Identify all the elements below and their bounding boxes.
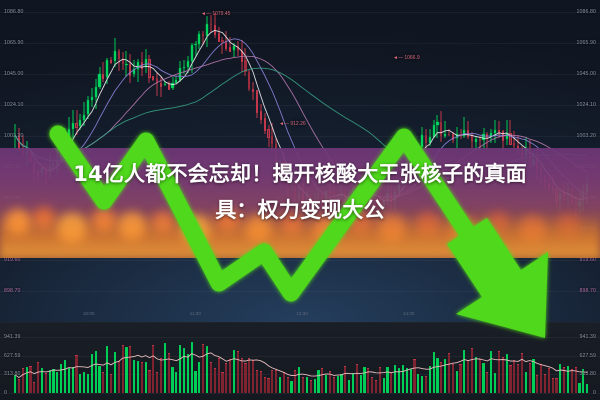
volume-bar xyxy=(233,350,235,393)
volume-bar xyxy=(486,372,488,393)
volume-bar xyxy=(344,366,346,393)
candle-body xyxy=(118,51,120,60)
volume-bar xyxy=(540,364,542,393)
candle xyxy=(264,113,266,134)
candle-wick xyxy=(498,121,499,138)
volume-bar xyxy=(229,359,231,393)
volume-bar xyxy=(72,367,74,393)
volume-bar xyxy=(187,354,189,393)
volume-bar xyxy=(110,374,112,393)
volume-axis-label: 941.39 xyxy=(580,334,596,340)
candle xyxy=(218,27,220,41)
volume-bar xyxy=(410,369,412,393)
volume-bar xyxy=(367,368,369,393)
candle-body xyxy=(271,136,273,144)
candle-body xyxy=(225,42,227,49)
candle xyxy=(202,31,204,44)
candle xyxy=(463,117,465,138)
volume-bar xyxy=(252,360,254,393)
volume-axis-label: 627.59 xyxy=(4,353,20,359)
volume-bar xyxy=(133,360,135,393)
candle-wick xyxy=(103,62,104,83)
candle xyxy=(175,76,177,82)
volume-bar xyxy=(506,354,508,393)
candle xyxy=(18,128,20,150)
volume-bar xyxy=(310,380,312,393)
volume-bar xyxy=(452,364,454,393)
candle xyxy=(72,110,74,138)
candle xyxy=(225,31,227,51)
volume-bar xyxy=(98,366,100,393)
candle-body xyxy=(267,129,269,138)
candle xyxy=(95,79,97,110)
volume-bar xyxy=(463,350,465,393)
volume-bar xyxy=(106,346,108,393)
candle-body xyxy=(506,133,508,138)
gridline xyxy=(0,260,600,261)
volume-bar xyxy=(45,373,47,393)
volume-bar xyxy=(237,351,239,393)
candle xyxy=(125,51,127,77)
candle-body xyxy=(68,129,70,140)
volume-bar xyxy=(356,364,358,393)
candle-body xyxy=(494,130,496,133)
volume-axis-label: 941.39 xyxy=(4,334,20,340)
volume-bar xyxy=(417,374,419,393)
candle xyxy=(87,96,89,119)
candle-body xyxy=(260,111,262,120)
volume-bar xyxy=(548,368,550,393)
volume-bar xyxy=(206,346,208,393)
volume-bar xyxy=(371,377,373,393)
candle-body xyxy=(256,90,258,112)
candle-body xyxy=(179,68,181,79)
candle-body xyxy=(502,131,504,141)
candle-body xyxy=(133,69,135,74)
volume-bar xyxy=(360,375,362,393)
volume-bar xyxy=(559,364,561,393)
volume-bar xyxy=(317,370,319,393)
candle xyxy=(164,82,166,86)
candle xyxy=(221,37,223,54)
candle xyxy=(233,43,235,57)
candle xyxy=(156,72,158,95)
volume-bar xyxy=(256,370,258,393)
candle-body xyxy=(444,134,446,136)
headline-text: 14亿人都不会忘却！揭开核酸大王张核子的真面 具：权力变现大公 xyxy=(0,156,600,228)
candle-body xyxy=(152,76,154,80)
volume-bar xyxy=(490,351,492,393)
candle-body xyxy=(137,62,139,69)
volume-bar xyxy=(379,367,381,393)
candle xyxy=(145,49,147,73)
candle-body xyxy=(433,125,435,137)
volume-bar xyxy=(198,362,200,393)
candle-body xyxy=(64,140,66,147)
candle xyxy=(137,59,139,83)
candle xyxy=(114,38,116,67)
volume-bar xyxy=(321,368,323,393)
volume-bar xyxy=(459,364,461,393)
candle xyxy=(187,56,189,73)
candle xyxy=(83,102,85,126)
candle xyxy=(171,77,173,90)
candle xyxy=(133,60,135,77)
volume-bar xyxy=(475,357,477,393)
candle-wick xyxy=(491,129,492,143)
headline-line-1: 14亿人都不会忘却！揭开核酸大王张核子的真面 xyxy=(0,156,600,192)
volume-bar xyxy=(275,370,277,393)
volume-bar xyxy=(91,354,93,393)
candle-body xyxy=(206,24,208,36)
candle-body xyxy=(513,143,515,146)
candle xyxy=(98,67,100,89)
volume-bar xyxy=(302,377,304,393)
candle-body xyxy=(102,74,104,79)
price-axis-label: 1024.10 xyxy=(577,102,596,108)
candle xyxy=(433,120,435,138)
candle xyxy=(486,132,488,149)
candle-body xyxy=(463,130,465,136)
candle xyxy=(91,88,93,107)
volume-bar xyxy=(191,342,193,393)
volume-bar xyxy=(586,384,588,393)
candle xyxy=(452,132,454,142)
volume-bar xyxy=(95,351,97,393)
price-axis-label: 898.70 xyxy=(580,288,596,294)
candle xyxy=(79,114,81,130)
price-axis-label: 1045.00 xyxy=(577,71,596,77)
candle-body xyxy=(486,134,488,138)
volume-bar xyxy=(168,353,170,393)
candle-body xyxy=(202,34,204,36)
volume-bar xyxy=(194,371,196,393)
candle xyxy=(160,76,162,97)
candle xyxy=(241,40,243,72)
volume-bar xyxy=(75,355,77,393)
gridline xyxy=(0,43,600,44)
candle-body xyxy=(160,83,162,86)
volume-bar xyxy=(444,359,446,393)
candle xyxy=(210,15,212,32)
volume-bar xyxy=(18,379,20,393)
volume-bar xyxy=(287,377,289,393)
candle xyxy=(444,121,446,137)
candle xyxy=(429,129,431,146)
volume-bar xyxy=(298,367,300,393)
gridline xyxy=(0,393,600,394)
candle-body xyxy=(210,24,212,26)
gridline xyxy=(0,74,600,75)
volume-bar xyxy=(218,358,220,394)
volume-axis-label: 313.80 xyxy=(580,371,596,377)
candle-body xyxy=(264,118,266,132)
volume-bar xyxy=(137,361,139,393)
volume-bar xyxy=(156,372,158,393)
candle-body xyxy=(452,134,454,139)
candle xyxy=(75,110,77,135)
volume-bar xyxy=(87,374,89,393)
volume-bar xyxy=(433,352,435,394)
screenshot-root: 1086.801065.901045.001024.101003.20982.3… xyxy=(0,0,600,400)
candle-body xyxy=(114,51,116,62)
volume-bar xyxy=(544,374,546,393)
candle-body xyxy=(475,139,477,141)
price-axis-label: 1065.90 xyxy=(577,40,596,46)
candle-body xyxy=(498,130,500,133)
candle-body xyxy=(87,100,89,114)
volume-bar xyxy=(502,357,504,393)
price-axis-label: 1086.80 xyxy=(4,9,23,15)
volume-bar xyxy=(26,367,28,393)
price-annotation: ◄— 1066.9 xyxy=(393,55,420,61)
candle-body xyxy=(221,40,223,42)
candle-body xyxy=(156,78,158,83)
candle xyxy=(106,58,108,84)
volume-axis-label: 627.59 xyxy=(580,353,596,359)
volume-bar xyxy=(244,363,246,393)
candle xyxy=(179,61,181,82)
volume-bar xyxy=(214,368,216,393)
volume-bar xyxy=(221,372,223,393)
volume-bar xyxy=(352,373,354,393)
candle-body xyxy=(467,130,469,137)
volume-bar xyxy=(333,377,335,393)
volume-bar xyxy=(398,368,400,393)
candle-body xyxy=(110,60,112,63)
candle xyxy=(191,43,193,73)
time-axis-label: 11:30 xyxy=(190,311,201,316)
candle xyxy=(448,129,450,136)
volume-bar xyxy=(532,359,534,393)
candle-body xyxy=(241,51,243,62)
volume-axis-label: 0 xyxy=(593,390,596,396)
candle xyxy=(198,31,200,49)
volume-bar xyxy=(283,372,285,393)
candle-body xyxy=(440,122,442,136)
volume-bar xyxy=(498,351,500,393)
candle-body xyxy=(175,80,177,83)
volume-bar xyxy=(456,371,458,393)
candle xyxy=(506,120,508,145)
candle xyxy=(467,121,469,138)
volume-bar xyxy=(83,372,85,393)
volume-bar xyxy=(290,381,292,393)
volume-bar xyxy=(429,366,431,393)
candle-body xyxy=(187,61,189,68)
candle xyxy=(148,55,150,83)
volume-bar xyxy=(471,348,473,393)
candle xyxy=(440,111,442,142)
volume-bar xyxy=(402,365,404,393)
candle-body xyxy=(148,59,150,78)
volume-bar xyxy=(571,369,573,393)
candle-body xyxy=(191,45,193,61)
gridline xyxy=(0,291,600,292)
volume-bar xyxy=(329,371,331,393)
volume-bar xyxy=(148,370,150,393)
candle-body xyxy=(229,47,231,53)
price-annotation: ◄— 912.26 xyxy=(279,121,306,127)
volume-bar xyxy=(202,344,204,393)
volume-bar xyxy=(375,380,377,393)
price-axis-label: 1045.00 xyxy=(4,71,23,77)
headline-line-2: 具：权力变现大公 xyxy=(0,192,600,228)
candle xyxy=(183,60,185,74)
price-annotation: ◄— 1079.45 xyxy=(201,11,230,17)
volume-bar xyxy=(578,383,580,393)
volume-bar xyxy=(394,365,396,393)
volume-bar xyxy=(575,367,577,393)
volume-chart-panel[interactable]: 941.39627.59313.800 941.39627.59313.800 xyxy=(0,322,600,400)
volume-bar xyxy=(525,372,527,393)
candle-body xyxy=(233,46,235,50)
candle-body xyxy=(218,33,220,42)
volume-bar xyxy=(60,364,62,393)
volume-bar xyxy=(340,374,342,393)
candle-wick xyxy=(456,127,457,148)
candle-body xyxy=(248,72,250,90)
volume-bar xyxy=(306,377,308,393)
candle xyxy=(456,127,458,148)
volume-bar xyxy=(563,367,565,393)
candle-body xyxy=(106,60,108,76)
candle xyxy=(425,129,427,148)
candle-body xyxy=(72,123,74,129)
candle-body xyxy=(471,135,473,141)
candle xyxy=(513,131,515,150)
candle xyxy=(498,121,500,138)
candle xyxy=(206,16,208,47)
volume-bar xyxy=(555,378,557,393)
volume-bar xyxy=(145,362,147,393)
candle-body xyxy=(79,120,81,126)
price-axis-label: 1065.90 xyxy=(4,40,23,46)
candle xyxy=(459,129,461,139)
volume-bar xyxy=(129,346,131,393)
price-axis-label: 1086.80 xyxy=(577,9,596,15)
volume-bar xyxy=(41,368,43,393)
candle xyxy=(168,81,170,88)
candle xyxy=(118,49,120,71)
candle-body xyxy=(429,137,431,143)
volume-bar xyxy=(467,360,469,393)
candle-body xyxy=(421,135,423,147)
volume-bar xyxy=(536,375,538,393)
gridline xyxy=(0,337,600,338)
volume-bar xyxy=(260,371,262,393)
volume-bar xyxy=(264,377,266,393)
candle xyxy=(252,82,254,100)
candle-body xyxy=(171,83,173,88)
candle xyxy=(482,128,484,150)
candle xyxy=(244,48,246,76)
volume-bar xyxy=(421,376,423,393)
volume-bar xyxy=(413,359,415,393)
candle xyxy=(490,129,492,143)
price-axis-label: 898.70 xyxy=(4,288,20,294)
candle xyxy=(141,52,143,76)
candle-body xyxy=(509,133,511,145)
volume-bar xyxy=(383,378,385,393)
volume-bar xyxy=(509,365,511,393)
candle-body xyxy=(95,87,97,96)
volume-bar xyxy=(567,366,569,393)
candle xyxy=(68,117,70,151)
volume-bar xyxy=(440,362,442,393)
candle-body xyxy=(244,60,246,72)
candle-body xyxy=(83,115,85,121)
price-axis-label: 1024.10 xyxy=(4,102,23,108)
candle-body xyxy=(425,135,427,143)
volume-bar xyxy=(183,348,185,393)
volume-bar xyxy=(406,368,408,393)
volume-bar xyxy=(363,367,365,393)
candle-wick xyxy=(437,115,438,138)
candle xyxy=(256,90,258,118)
volume-bar xyxy=(210,362,212,393)
candle xyxy=(194,41,196,57)
candle-body xyxy=(75,123,77,128)
volume-bar xyxy=(29,366,31,393)
time-axis-label: 15:00 xyxy=(510,311,522,316)
volume-bar xyxy=(14,375,16,393)
candle-body xyxy=(98,74,100,88)
volume-bar xyxy=(552,378,554,393)
candle-body xyxy=(214,25,216,35)
candle-body xyxy=(122,59,124,64)
candle-body xyxy=(198,34,200,44)
candle xyxy=(248,70,250,91)
candle-body xyxy=(145,59,147,67)
volume-bar xyxy=(325,375,327,393)
price-axis-label: 1003.20 xyxy=(577,133,596,139)
volume-bar xyxy=(49,370,51,393)
volume-bar xyxy=(179,345,181,393)
candle-body xyxy=(91,97,93,101)
candle-body xyxy=(168,84,170,89)
volume-bar xyxy=(267,378,269,393)
candle-body xyxy=(129,64,131,76)
volume-bar xyxy=(448,353,450,393)
candle-wick xyxy=(448,129,449,136)
candle xyxy=(509,120,511,144)
volume-bar xyxy=(241,358,243,393)
volume-bar xyxy=(386,367,388,393)
time-axis-label: 13:30 xyxy=(296,311,308,316)
candle xyxy=(260,104,262,125)
volume-bar xyxy=(521,353,523,393)
gridline xyxy=(0,12,600,13)
volume-bar xyxy=(122,345,124,393)
volume-bar xyxy=(482,363,484,393)
volume-bar xyxy=(118,361,120,393)
candle-wick xyxy=(157,72,158,95)
candle-body xyxy=(436,122,438,125)
price-axis-label: 1003.20 xyxy=(4,133,23,139)
volume-bar xyxy=(248,358,250,393)
time-axis-label: 10:00 xyxy=(83,311,95,316)
volume-bar xyxy=(225,363,227,393)
candle xyxy=(129,54,131,83)
candle xyxy=(494,120,496,142)
volume-bar xyxy=(425,376,427,393)
volume-bar xyxy=(125,347,127,393)
volume-bar xyxy=(436,358,438,393)
volume-bar xyxy=(171,367,173,393)
volume-bar xyxy=(314,379,316,393)
volume-bar xyxy=(114,352,116,393)
